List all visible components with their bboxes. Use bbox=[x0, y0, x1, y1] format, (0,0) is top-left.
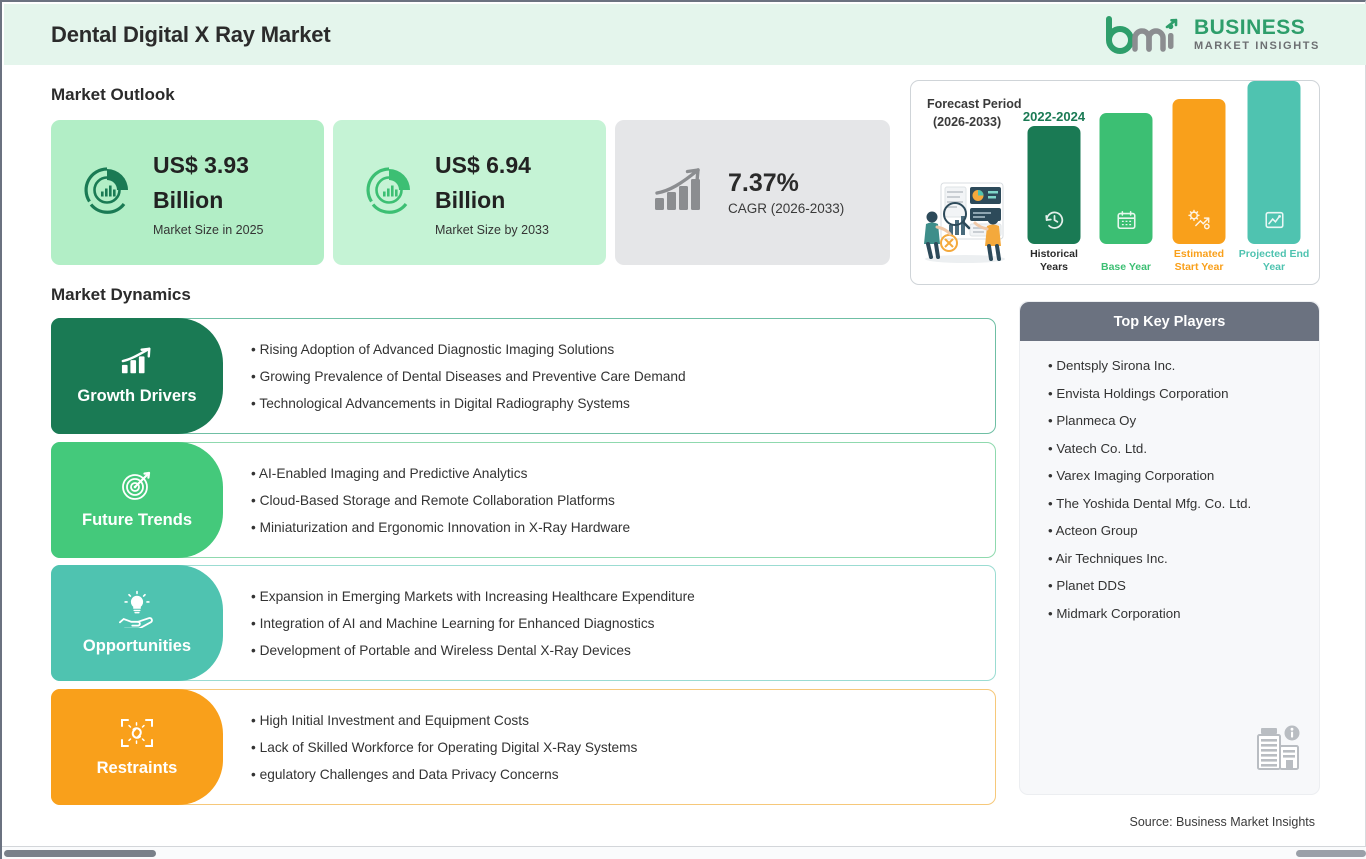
list-item: • Envista Holdings Corporation bbox=[1048, 386, 1319, 401]
forecast-bar-1 bbox=[1100, 113, 1153, 244]
forecast-bar-2 bbox=[1173, 99, 1226, 244]
cagr-caption: CAGR (2026-2033) bbox=[728, 201, 844, 216]
company-info-icon bbox=[1253, 722, 1305, 774]
market-size-2033-caption: Market Size by 2033 bbox=[435, 223, 549, 237]
dynamics-tab-label: Future Trends bbox=[82, 511, 192, 530]
forecast-bar-group-historical: 2022-2024 Historical Years bbox=[1019, 109, 1089, 274]
market-size-2025-caption: Market Size in 2025 bbox=[153, 223, 263, 237]
horizontal-scrollbar[interactable] bbox=[2, 846, 1366, 859]
market-size-2033-value-line2: Billion bbox=[435, 183, 549, 218]
top-key-players-panel: Top Key Players • Dentsply Sirona Inc. •… bbox=[1019, 301, 1320, 795]
forecast-bar-caption-1: Base Year bbox=[1091, 261, 1161, 274]
forecast-bar-caption-0: Historical Years bbox=[1019, 248, 1089, 274]
forecast-bar-3 bbox=[1248, 81, 1301, 244]
dynamics-row-future-trends: Future Trends • AI-Enabled Imaging and P… bbox=[51, 442, 996, 558]
dynamics-tab-growth-drivers[interactable]: Growth Drivers bbox=[51, 318, 223, 434]
dynamics-point: • Expansion in Emerging Markets with Inc… bbox=[251, 589, 984, 604]
forecast-period-range: (2026-2033) bbox=[933, 115, 1001, 129]
cagr-value: 7.37% bbox=[728, 169, 844, 198]
top-key-players-list: • Dentsply Sirona Inc. • Envista Holding… bbox=[1020, 341, 1319, 621]
history-clock-icon bbox=[1043, 209, 1065, 236]
top-key-players-header: Top Key Players bbox=[1020, 302, 1319, 341]
market-size-2025-value-line2: Billion bbox=[153, 183, 263, 218]
list-item: • Acteon Group bbox=[1048, 523, 1319, 538]
dynamics-tab-label: Restraints bbox=[97, 759, 178, 778]
dynamics-row-restraints: Restraints • High Initial Investment and… bbox=[51, 689, 996, 805]
dynamics-point: • High Initial Investment and Equipment … bbox=[251, 713, 984, 728]
list-item: • Varex Imaging Corporation bbox=[1048, 468, 1319, 483]
donut-chart-icon bbox=[363, 164, 415, 221]
market-dynamics-heading: Market Dynamics bbox=[51, 285, 191, 305]
bar-chart-arrow-icon bbox=[118, 346, 156, 383]
list-item: • The Yoshida Dental Mfg. Co. Ltd. bbox=[1048, 496, 1319, 511]
dynamics-row-growth-drivers: Growth Drivers • Rising Adoption of Adva… bbox=[51, 318, 996, 434]
forecast-bar-caption-2: Estimated Start Year bbox=[1163, 248, 1235, 274]
dynamics-tab-label: Opportunities bbox=[83, 637, 191, 656]
dynamics-points-growth-drivers: • Rising Adoption of Advanced Diagnostic… bbox=[251, 318, 984, 434]
dynamics-point: • Cloud-Based Storage and Remote Collabo… bbox=[251, 493, 984, 508]
donut-chart-icon bbox=[81, 164, 133, 221]
top-key-players-title: Top Key Players bbox=[1114, 314, 1226, 330]
target-dart-icon bbox=[120, 470, 154, 507]
logo-line-market-insights: MARKET INSIGHTS bbox=[1194, 41, 1320, 52]
list-item: • Planet DDS bbox=[1048, 578, 1319, 593]
scrollbar-thumb[interactable] bbox=[4, 850, 156, 857]
list-item: • Midmark Corporation bbox=[1048, 606, 1319, 621]
dynamics-point: • Integration of AI and Machine Learning… bbox=[251, 616, 984, 631]
bmi-logo-icon bbox=[1105, 16, 1185, 54]
market-size-2025-card: US$ 3.93 Billion Market Size in 2025 bbox=[51, 120, 324, 265]
dynamics-point: • Development of Portable and Wireless D… bbox=[251, 643, 984, 658]
forecast-bar-group-estimated: 2026 Estimated Start Year bbox=[1163, 109, 1235, 274]
dynamics-tab-opportunities[interactable]: Opportunities bbox=[51, 565, 223, 681]
scrollbar-end-marker[interactable] bbox=[1296, 850, 1366, 857]
infographic-page: Dental Digital X Ray Market BUSINESS MAR… bbox=[0, 0, 1366, 859]
brand-logo: BUSINESS MARKET INSIGHTS bbox=[1105, 16, 1320, 54]
forecast-bar-group-projected: 2033 Projected End Year bbox=[1236, 109, 1312, 274]
dynamics-point: • Lack of Skilled Workforce for Operatin… bbox=[251, 740, 984, 755]
dynamics-point: • Growing Prevalence of Dental Diseases … bbox=[251, 369, 984, 384]
logo-wordmark: BUSINESS MARKET INSIGHTS bbox=[1194, 17, 1320, 52]
market-size-2033-value-line1: US$ 6.94 bbox=[435, 148, 549, 183]
list-item: • Vatech Co. Ltd. bbox=[1048, 441, 1319, 456]
lightbulb-hand-icon bbox=[116, 590, 158, 633]
source-note: Source: Business Market Insights bbox=[1130, 815, 1316, 829]
forecast-period-chart: Forecast Period (2026-2033) bbox=[910, 80, 1320, 285]
dynamics-tab-label: Growth Drivers bbox=[77, 387, 196, 406]
forecast-bar-group-base: 2025 Base Year bbox=[1091, 109, 1161, 274]
dynamics-point: • AI-Enabled Imaging and Predictive Anal… bbox=[251, 466, 984, 481]
estimate-gear-icon bbox=[1187, 209, 1211, 236]
forecast-bar-year-0: 2022-2024 bbox=[1019, 109, 1089, 124]
market-size-2033-card: US$ 6.94 Billion Market Size by 2033 bbox=[333, 120, 606, 265]
list-item: • Air Techniques Inc. bbox=[1048, 551, 1319, 566]
dynamics-point: • Miniaturization and Ergonomic Innovati… bbox=[251, 520, 984, 535]
list-item: • Planmeca Oy bbox=[1048, 413, 1319, 428]
dynamics-point: • egulatory Challenges and Data Privacy … bbox=[251, 767, 984, 782]
cagr-card: 7.37% CAGR (2026-2033) bbox=[615, 120, 890, 265]
dynamics-row-opportunities: Opportunities • Expansion in Emerging Ma… bbox=[51, 565, 996, 681]
projection-image-icon bbox=[1263, 209, 1285, 236]
blocked-link-icon bbox=[119, 716, 155, 755]
dynamics-points-future-trends: • AI-Enabled Imaging and Predictive Anal… bbox=[251, 442, 984, 558]
growth-arrow-chart-icon bbox=[653, 164, 711, 221]
logo-line-business: BUSINESS bbox=[1194, 17, 1320, 38]
forecast-bar-0 bbox=[1028, 126, 1081, 244]
dynamics-tab-future-trends[interactable]: Future Trends bbox=[51, 442, 223, 558]
market-outlook-heading: Market Outlook bbox=[51, 85, 175, 105]
team-analytics-illustration bbox=[915, 177, 1015, 265]
page-title: Dental Digital X Ray Market bbox=[51, 22, 330, 48]
dynamics-points-opportunities: • Expansion in Emerging Markets with Inc… bbox=[251, 565, 984, 681]
dynamics-points-restraints: • High Initial Investment and Equipment … bbox=[251, 689, 984, 805]
dynamics-point: • Rising Adoption of Advanced Diagnostic… bbox=[251, 342, 984, 357]
dynamics-point: • Technological Advancements in Digital … bbox=[251, 396, 984, 411]
forecast-bar-caption-3: Projected End Year bbox=[1236, 248, 1312, 274]
list-item: • Dentsply Sirona Inc. bbox=[1048, 358, 1319, 373]
market-size-2025-value-line1: US$ 3.93 bbox=[153, 148, 263, 183]
dynamics-tab-restraints[interactable]: Restraints bbox=[51, 689, 223, 805]
calendar-icon bbox=[1115, 209, 1137, 236]
page-header: Dental Digital X Ray Market BUSINESS MAR… bbox=[4, 4, 1366, 65]
forecast-period-label: Forecast Period bbox=[927, 97, 1021, 111]
